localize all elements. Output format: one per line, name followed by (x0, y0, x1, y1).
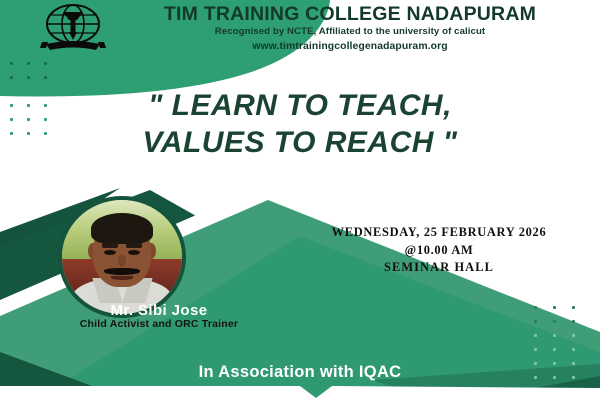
speaker-portrait (62, 200, 182, 314)
event-details-block: WEDNESDAY, 25 FEBRUARY 2026 @10.00 AM SE… (288, 224, 590, 277)
event-date: WEDNESDAY, 25 FEBRUARY 2026 (288, 224, 590, 242)
college-website: www.timtrainingcollegenadapuram.org (115, 40, 585, 54)
poster-header: TIM TRAINING COLLEGE NADAPURAM Recognise… (0, 0, 600, 60)
speaker-photo-frame (58, 196, 186, 318)
headline-line-2: VALUES TO REACH " (0, 125, 600, 162)
college-name: TIM TRAINING COLLEGE NADAPURAM (115, 4, 585, 24)
header-text-block: TIM TRAINING COLLEGE NADAPURAM Recognise… (115, 4, 585, 54)
headline-line-1: " LEARN TO TEACH, (148, 89, 452, 122)
poster-headline: " LEARN TO TEACH, VALUES TO REACH " (0, 88, 600, 161)
event-time: @10.00 AM (288, 242, 590, 260)
event-venue: SEMINAR HALL (288, 259, 590, 277)
college-recognition: Recognised by NCTE, Affiliated to the un… (115, 26, 585, 39)
event-poster: TIM TRAINING COLLEGE NADAPURAM Recognise… (0, 0, 600, 400)
speaker-name: Mr. Sibi Jose (28, 302, 290, 319)
globe-torch-crest-logo (36, 2, 110, 54)
association-text: In Association with IQAC (0, 363, 600, 382)
speaker-role: Child Activist and ORC Trainer (28, 318, 290, 330)
